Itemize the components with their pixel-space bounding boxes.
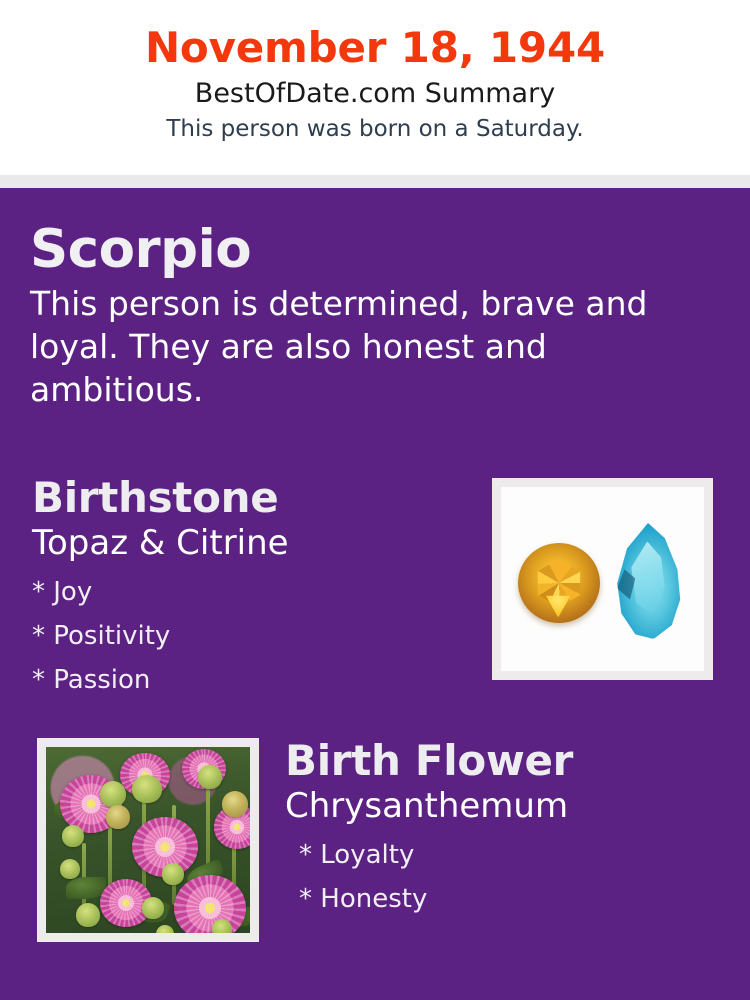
zodiac-section: Scorpio This person is determined, brave… xyxy=(30,220,710,411)
chrysanthemum-bud xyxy=(222,791,248,817)
chrysanthemum-bud xyxy=(162,863,184,885)
chrysanthemum-bud xyxy=(76,903,100,927)
birthstone-title: Birthstone xyxy=(32,473,472,523)
citrine-gem-icon xyxy=(518,543,600,623)
birth-flower-title: Birth Flower xyxy=(285,736,725,786)
birthstone-image xyxy=(492,478,713,680)
chrysanthemum-bud xyxy=(212,919,232,933)
chrysanthemum-bud xyxy=(132,775,162,803)
chrysanthemum-bud xyxy=(106,805,130,829)
page-header: November 18, 1944 BestOfDate.com Summary… xyxy=(0,0,750,175)
header-divider xyxy=(0,175,750,188)
birthstone-trait-list: * Joy * Positivity * Passion xyxy=(32,570,472,702)
birth-flower-image xyxy=(37,738,259,942)
page-title: November 18, 1944 xyxy=(0,22,750,74)
birth-flower-trait-list: * Loyalty * Honesty xyxy=(299,833,725,921)
list-item: * Joy xyxy=(32,570,472,614)
birth-day-note: This person was born on a Saturday. xyxy=(0,114,750,144)
chrysanthemum-bud xyxy=(142,897,164,919)
chrysanthemum-bud xyxy=(60,859,80,879)
chrysanthemum-scene xyxy=(46,747,250,933)
list-item: * Honesty xyxy=(299,877,725,921)
list-item: * Passion xyxy=(32,658,472,702)
birth-flower-image-inner xyxy=(46,747,250,933)
birth-flower-section: Birth Flower Chrysanthemum * Loyalty * H… xyxy=(285,736,725,921)
list-item: * Positivity xyxy=(32,614,472,658)
chrysanthemum-bud xyxy=(62,825,84,847)
birthstone-image-inner xyxy=(501,487,704,671)
site-summary-label: BestOfDate.com Summary xyxy=(0,77,750,111)
list-item: * Loyalty xyxy=(299,833,725,877)
chrysanthemum-bud xyxy=(100,781,126,807)
chrysanthemum-bloom xyxy=(174,875,246,933)
chrysanthemum-bud xyxy=(198,765,222,789)
birthstone-section: Birthstone Topaz & Citrine * Joy * Posit… xyxy=(32,473,472,702)
zodiac-sign-title: Scorpio xyxy=(30,220,710,280)
birthstone-name: Topaz & Citrine xyxy=(32,522,472,564)
summary-panel: Scorpio This person is determined, brave… xyxy=(0,188,750,1000)
chrysanthemum-bud xyxy=(156,925,174,933)
blue-topaz-gem-icon xyxy=(613,523,683,639)
birth-flower-name: Chrysanthemum xyxy=(285,785,725,827)
zodiac-description: This person is determined, brave and loy… xyxy=(30,282,690,411)
